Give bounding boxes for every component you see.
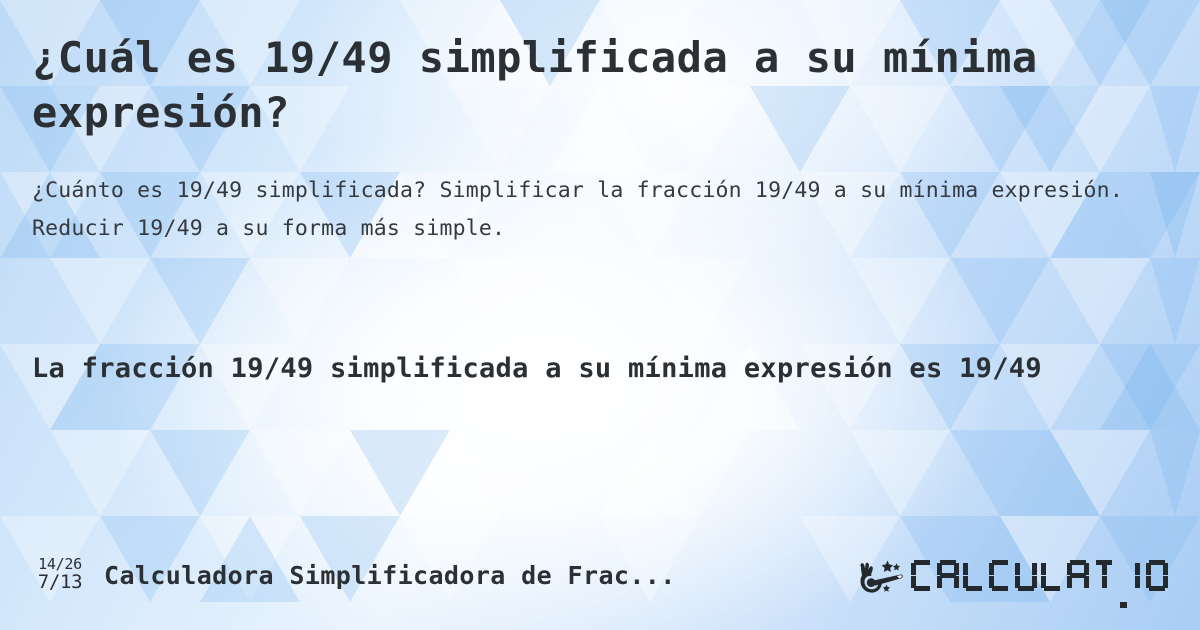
page-title: ¿Cuál es 19/49 simplificada a su mínima … <box>32 30 1062 140</box>
footer-bar: 14/26 7/13 Calculadora Simplificadora de… <box>0 545 1200 605</box>
brand-letter-c2 <box>989 560 1011 591</box>
brand-wordmark <box>911 555 1172 595</box>
brand-logo[interactable] <box>853 555 1172 595</box>
og-image-card: ¿Cuál es 19/49 simplificada a su mínima … <box>0 0 1200 630</box>
brand-letter-dot <box>1120 602 1127 608</box>
brand-letter-u <box>1015 560 1037 591</box>
brand-letter-a1 <box>937 560 959 591</box>
brand-letter-t <box>1093 560 1115 591</box>
footer-site-title: Calculadora Simplificadora de Frac... <box>104 561 676 590</box>
brand-letter-a2 <box>1067 560 1089 591</box>
fraction-simplify-icon: 14/26 7/13 <box>30 557 90 593</box>
card-content: ¿Cuál es 19/49 simplificada a su mínima … <box>0 0 1200 630</box>
intro-paragraph: ¿Cuánto es 19/49 simplificada? Simplific… <box>32 172 1132 248</box>
answer-statement: La fracción 19/49 simplificada a su míni… <box>32 345 1142 393</box>
brand-letter-l1 <box>963 560 985 591</box>
fraction-icon-after-label: 7/13 <box>38 573 83 593</box>
brand-letter-c1 <box>911 560 933 591</box>
brand-letter-o <box>1146 560 1168 591</box>
brand-letter-l2 <box>1041 560 1063 591</box>
brand-letter-i <box>1132 560 1142 591</box>
magic-wand-hand-icon <box>853 555 905 595</box>
footer-left-group: 14/26 7/13 Calculadora Simplificadora de… <box>30 557 853 593</box>
